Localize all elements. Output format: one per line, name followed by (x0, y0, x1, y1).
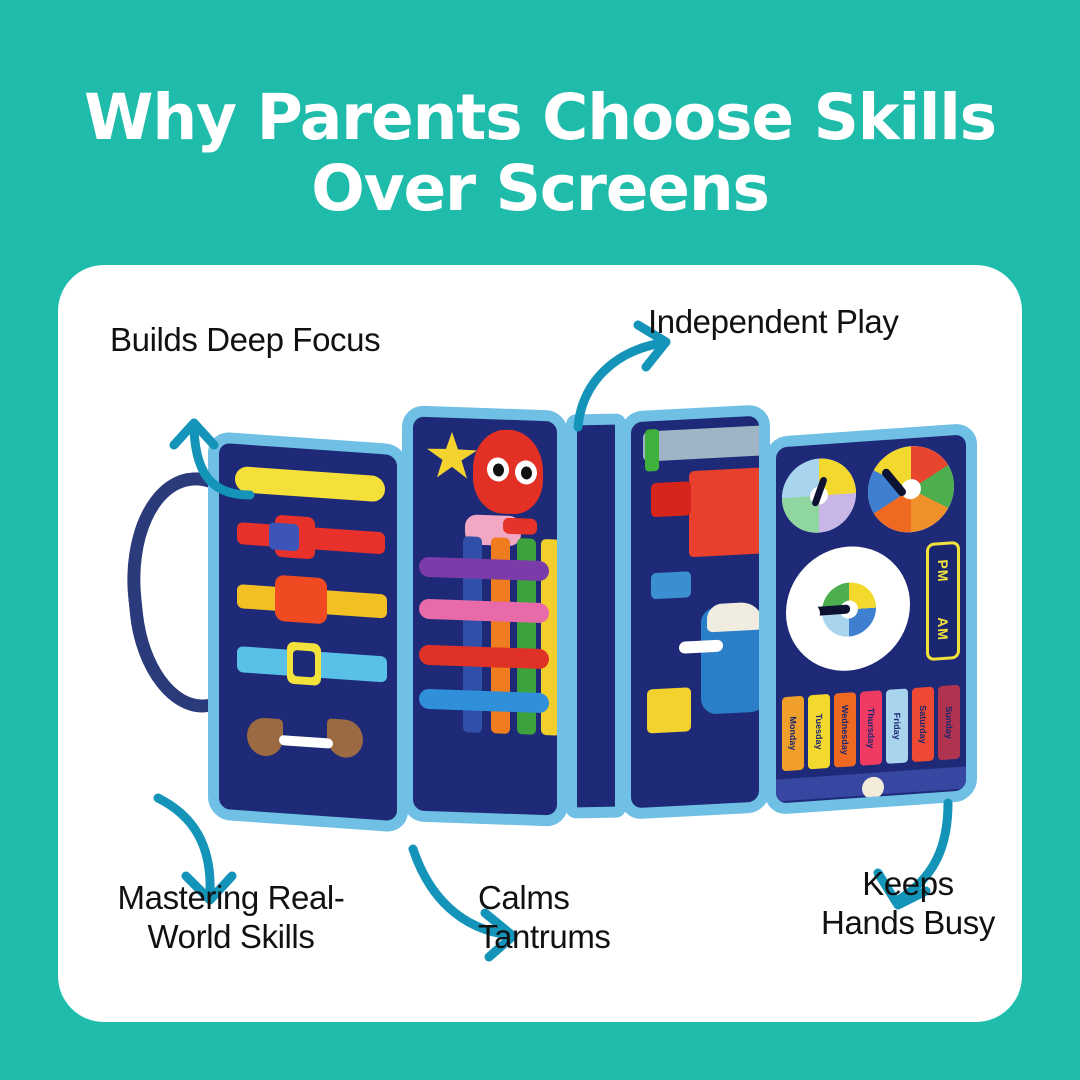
weekday-tab[interactable]: Tuesday (808, 694, 830, 770)
lacing-piece-left (247, 717, 283, 758)
am-pm-slider[interactable]: PM AM (926, 541, 960, 661)
board-panel-center-left (402, 405, 568, 827)
callout-label-independent-play: Independent Play (648, 303, 1018, 342)
weekday-label: Thursday (866, 707, 876, 748)
page-title-line-2: Over Screens (0, 157, 1080, 220)
sneaker-lace (679, 640, 723, 654)
curved-arrow-up-left-icon (138, 395, 258, 515)
octopus-pupil-left (493, 463, 504, 476)
board-panel-center-right (620, 404, 770, 820)
side-release-clip (275, 575, 327, 625)
callout-label-builds-deep-focus: Builds Deep Focus (110, 321, 450, 360)
weekday-tab[interactable]: Thursday (860, 690, 882, 766)
weekday-label: Monday (788, 716, 798, 751)
board-panel-right: PM AM Monday Tuesday Wednesday Thursday … (765, 423, 977, 816)
lacing-piece-right (327, 718, 363, 759)
weekday-label: Wednesday (840, 705, 850, 756)
weaving-strap-horizontal (419, 645, 549, 670)
pm-label: PM (935, 559, 951, 583)
red-flap (689, 467, 769, 557)
weekday-tab[interactable]: Friday (886, 688, 908, 764)
callout-label-mastering-skills: Mastering Real- World Skills (66, 879, 396, 957)
content-card: PM AM Monday Tuesday Wednesday Thursday … (58, 265, 1022, 1022)
weekday-label: Sunday (944, 706, 954, 739)
page-title: Why Parents Choose Skills Over Screens (0, 86, 1080, 220)
blue-velcro-tab (651, 571, 691, 599)
weaving-strap-horizontal (419, 557, 549, 582)
weekday-tab[interactable]: Saturday (912, 687, 934, 763)
weaving-strap-horizontal (419, 689, 549, 714)
weekday-tab[interactable]: Wednesday (834, 692, 856, 768)
callout-label-keeps-hands-busy: Keeps Hands Busy (758, 865, 1022, 943)
red-clip (503, 518, 537, 535)
weekday-label: Friday (892, 712, 902, 740)
weather-dial (868, 443, 954, 535)
weekday-tab[interactable]: Sunday (938, 685, 960, 761)
callout-label-calms-tantrums: Calms Tantrums (478, 879, 708, 957)
weekday-tab[interactable]: Monday (782, 696, 804, 772)
season-dial (782, 456, 856, 535)
weekday-label: Saturday (918, 705, 928, 744)
octopus-pupil-right (521, 466, 532, 479)
weekday-tab-list: Monday Tuesday Wednesday Thursday Friday… (782, 685, 960, 771)
red-velcro-tab (651, 481, 691, 517)
weekday-label: Tuesday (814, 713, 824, 750)
slide-buckle-slot (293, 650, 315, 678)
weaving-strap-horizontal (419, 599, 549, 624)
belt-buckle-frame (269, 522, 299, 551)
am-label: AM (935, 617, 951, 642)
yellow-velcro-tab (647, 687, 691, 733)
shoelace (279, 735, 333, 749)
sneaker-toe-cap (707, 601, 763, 632)
star-shape-icon (427, 431, 477, 481)
page-title-line-1: Why Parents Choose Skills (0, 86, 1080, 149)
green-ribbon (645, 429, 659, 472)
board-panel-spine (566, 413, 626, 818)
